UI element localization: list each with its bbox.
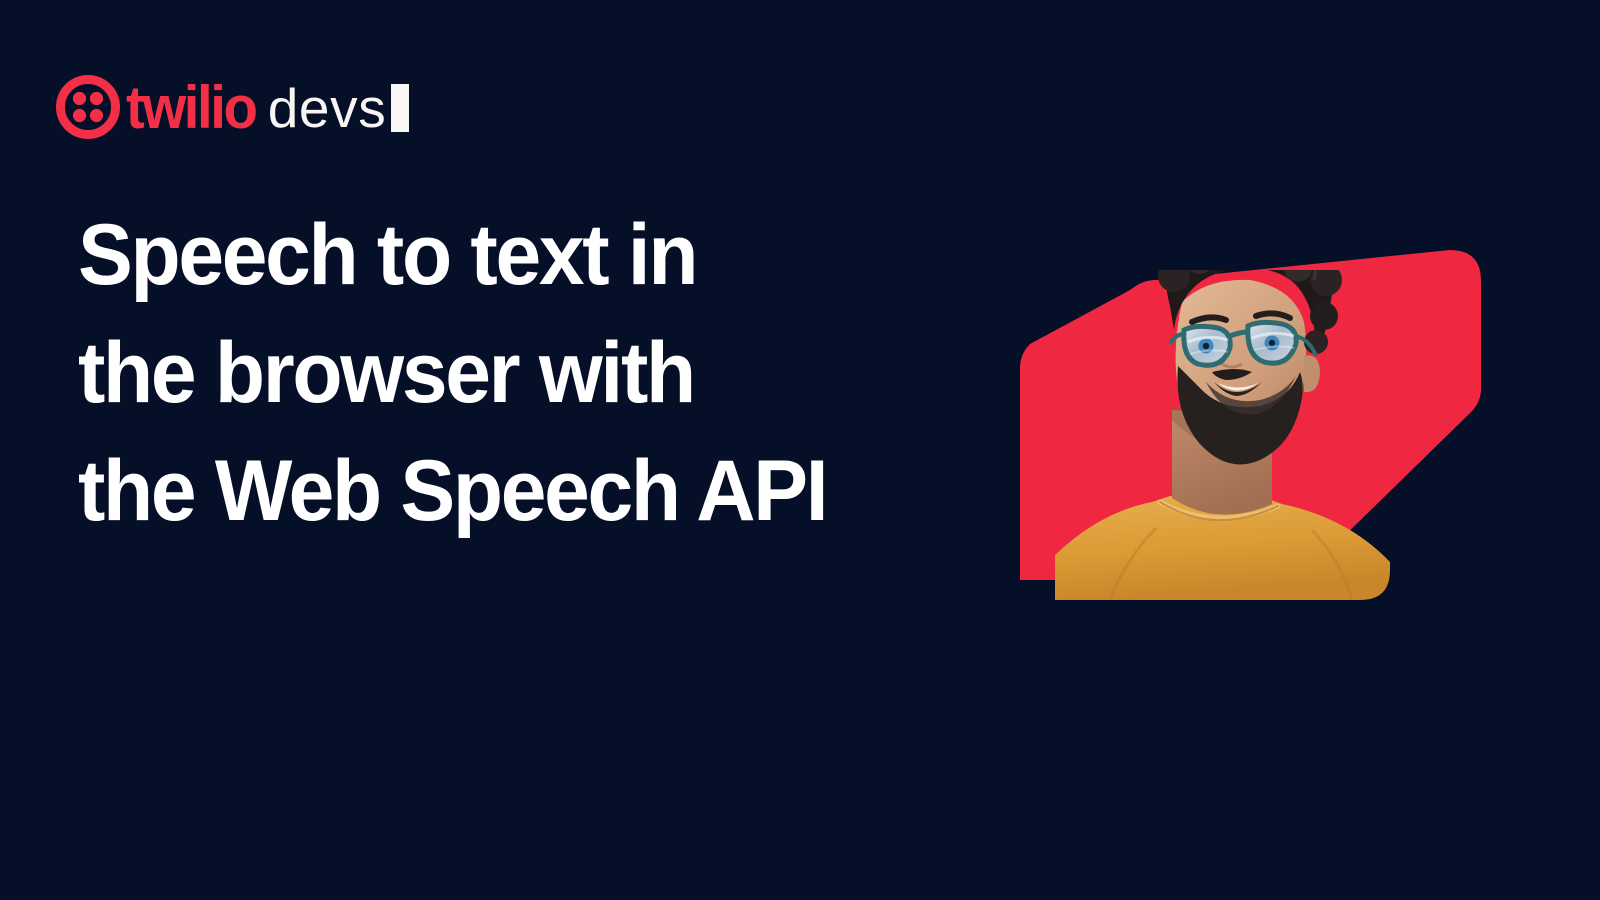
slide-canvas: twilio devs Speech to text in the browse…	[0, 0, 1600, 900]
page-title-line-2: the browser with	[78, 314, 918, 432]
brand-lockup[interactable]: twilio devs	[56, 74, 409, 140]
page-title: Speech to text in the browser with the W…	[78, 196, 918, 550]
page-title-line-1: Speech to text in	[78, 196, 918, 314]
twilio-logo-icon	[56, 75, 120, 139]
twilio-wordmark: twilio	[126, 78, 255, 138]
devs-wordmark: devs	[268, 81, 387, 136]
hero-illustration	[960, 130, 1520, 630]
text-caret-block-icon	[391, 84, 409, 132]
hero-artwork	[960, 130, 1520, 630]
page-title-line-3: the Web Speech API	[78, 432, 918, 550]
